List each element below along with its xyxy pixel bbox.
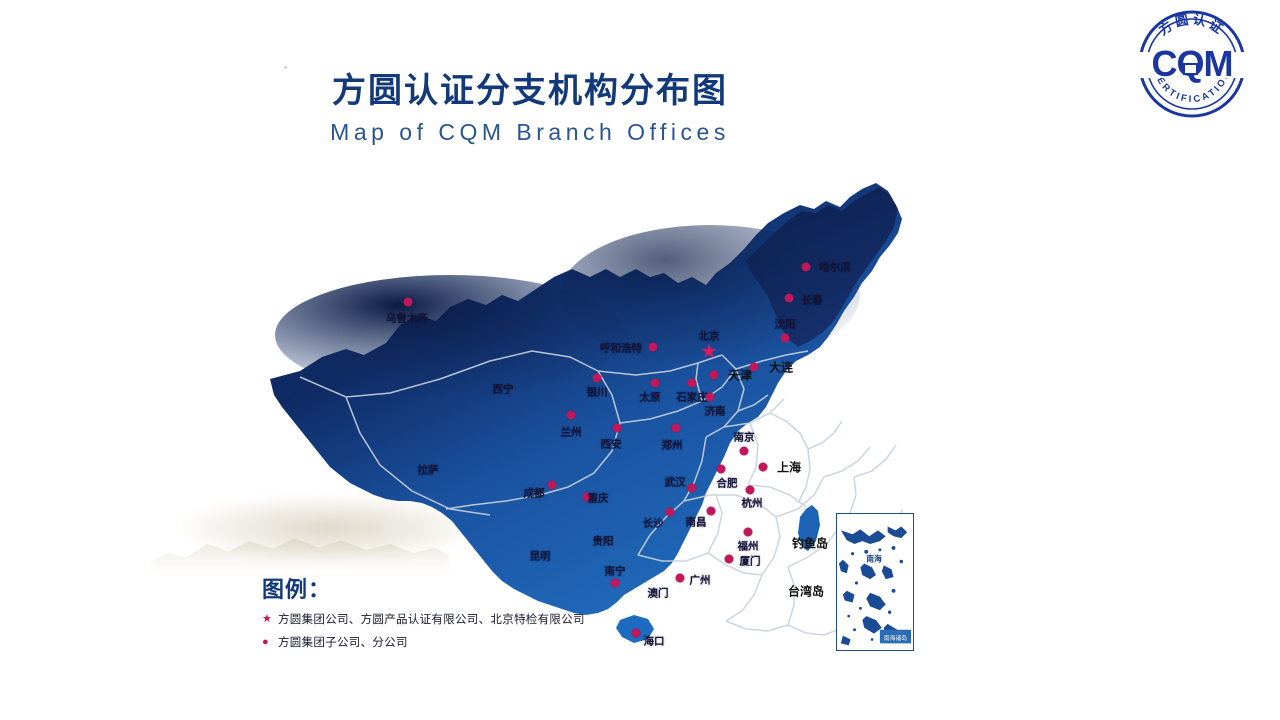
city-marker-chengdu[interactable]	[548, 481, 557, 490]
city-marker-beijing[interactable]: ★	[700, 343, 717, 362]
city-label-hefei: 合肥	[717, 476, 738, 491]
inset-sea-label: 南海	[866, 554, 882, 564]
city-label-wuhan: 武汉	[665, 475, 686, 490]
city-marker-nanning[interactable]	[611, 579, 620, 588]
island-label-diaoyu-islands: 钓鱼岛	[792, 535, 828, 552]
city-marker-zhengzhou[interactable]	[672, 424, 681, 433]
city-label-shijiazhuang: 石家庄	[676, 390, 708, 405]
city-marker-hefei[interactable]	[717, 465, 726, 474]
page-title: 方圆认证分支机构分布图 Map of CQM Branch Offices	[0, 70, 1060, 146]
city-marker-lanzhou[interactable]	[567, 411, 576, 420]
city-marker-taiyuan[interactable]	[651, 379, 660, 388]
map-poster: 方圆认证分支机构分布图 Map of CQM Branch Offices 方圆…	[0, 0, 1280, 720]
legend-label-headquarters: 方圆集团公司、方圆产品认证有限公司、北京特检有限公司	[278, 611, 585, 627]
city-marker-nanjing[interactable]	[740, 447, 749, 456]
legend-title: 图例：	[262, 572, 585, 604]
cqm-logo: 方圆认证 CERTIFICATION CQM	[1118, 6, 1266, 122]
city-label-xiamen: 厦门	[740, 554, 761, 569]
legend-item-headquarters: ★ 方圆集团公司、方圆产品认证有限公司、北京特检有限公司	[262, 611, 585, 627]
city-label-yinchuan: 银川	[587, 385, 608, 400]
city-marker-wuhan[interactable]	[688, 484, 697, 493]
city-marker-shijiazhuang[interactable]	[688, 379, 697, 388]
city-marker-xiamen[interactable]	[725, 555, 734, 564]
city-label-macau: 澳门	[648, 586, 669, 601]
city-label-hangzhou: 杭州	[742, 496, 763, 511]
title-chinese: 方圆认证分支机构分布图	[0, 70, 1060, 113]
city-label-nanjing: 南京	[734, 430, 755, 445]
legend-item-branches: ● 方圆集团子公司、分公司	[262, 634, 585, 650]
city-label-lhasa: 拉萨	[418, 463, 439, 478]
city-marker-harbin[interactable]	[802, 263, 811, 272]
city-marker-shenyang[interactable]	[781, 334, 790, 343]
city-label-haikou: 海口	[644, 634, 665, 649]
city-label-chengdu: 成都	[524, 486, 545, 501]
city-label-chongqing: 重庆	[588, 491, 609, 506]
city-label-tianjin: 天津	[728, 367, 752, 384]
city-label-nanning: 南宁	[605, 564, 626, 579]
city-label-hohhot: 呼和浩特	[600, 341, 642, 356]
city-label-changchun: 长春	[802, 293, 823, 308]
city-label-shenyang: 沈阳	[775, 317, 796, 332]
city-label-lanzhou: 兰州	[561, 425, 582, 440]
city-marker-fuzhou[interactable]	[744, 528, 753, 537]
city-label-jinan: 济南	[705, 404, 726, 419]
city-marker-xian[interactable]	[613, 424, 622, 433]
island-label-taiwan-island: 台湾岛	[788, 583, 824, 600]
city-marker-urumqi[interactable]	[404, 298, 413, 307]
svg-text:方圆认证: 方圆认证	[1156, 11, 1227, 38]
city-marker-jinan[interactable]	[706, 393, 715, 402]
city-marker-tianjin[interactable]	[710, 371, 719, 380]
city-label-guangzhou: 广州	[690, 573, 711, 588]
city-label-nanchang: 南昌	[686, 515, 707, 530]
city-label-dalian: 大连	[769, 359, 793, 376]
city-label-kunming: 昆明	[530, 549, 551, 564]
city-marker-shanghai[interactable]	[759, 463, 768, 472]
city-label-zhengzhou: 郑州	[662, 438, 683, 453]
city-label-harbin: 哈尔滨	[819, 260, 851, 275]
city-label-beijing: 北京	[699, 329, 720, 344]
city-marker-haikou[interactable]	[632, 629, 641, 638]
legend-star-icon: ★	[262, 614, 276, 625]
legend-label-branches: 方圆集团子公司、分公司	[278, 634, 408, 650]
legend: 图例： ★ 方圆集团公司、方圆产品认证有限公司、北京特检有限公司 ● 方圆集团子…	[262, 572, 585, 650]
city-label-guiyang: 贵阳	[593, 534, 614, 549]
city-marker-changchun[interactable]	[785, 294, 794, 303]
city-label-changsha: 长沙	[643, 516, 664, 531]
city-marker-guangzhou[interactable]	[676, 574, 685, 583]
legend-dot-icon: ●	[262, 637, 276, 648]
city-label-fuzhou: 福州	[738, 539, 759, 554]
city-label-urumqi: 乌鲁木齐	[386, 311, 428, 326]
inset-corner-label: 南海诸岛	[884, 634, 907, 642]
south-china-sea-inset: 南海 南海诸岛	[836, 513, 914, 651]
city-label-xian: 西安	[601, 437, 622, 452]
city-label-xining: 西宁	[493, 382, 514, 397]
logo-top-text: 方圆认证	[1156, 11, 1227, 38]
city-marker-nanchang[interactable]	[707, 507, 716, 516]
city-marker-yinchuan[interactable]	[593, 374, 602, 383]
city-marker-hangzhou[interactable]	[746, 486, 755, 495]
paper-speck	[284, 66, 287, 69]
city-label-shanghai: 上海	[777, 459, 801, 476]
title-english: Map of CQM Branch Offices	[0, 119, 1060, 146]
city-marker-changsha[interactable]	[666, 508, 675, 517]
city-label-taiyuan: 太原	[640, 390, 661, 405]
city-marker-hohhot[interactable]	[649, 343, 658, 352]
